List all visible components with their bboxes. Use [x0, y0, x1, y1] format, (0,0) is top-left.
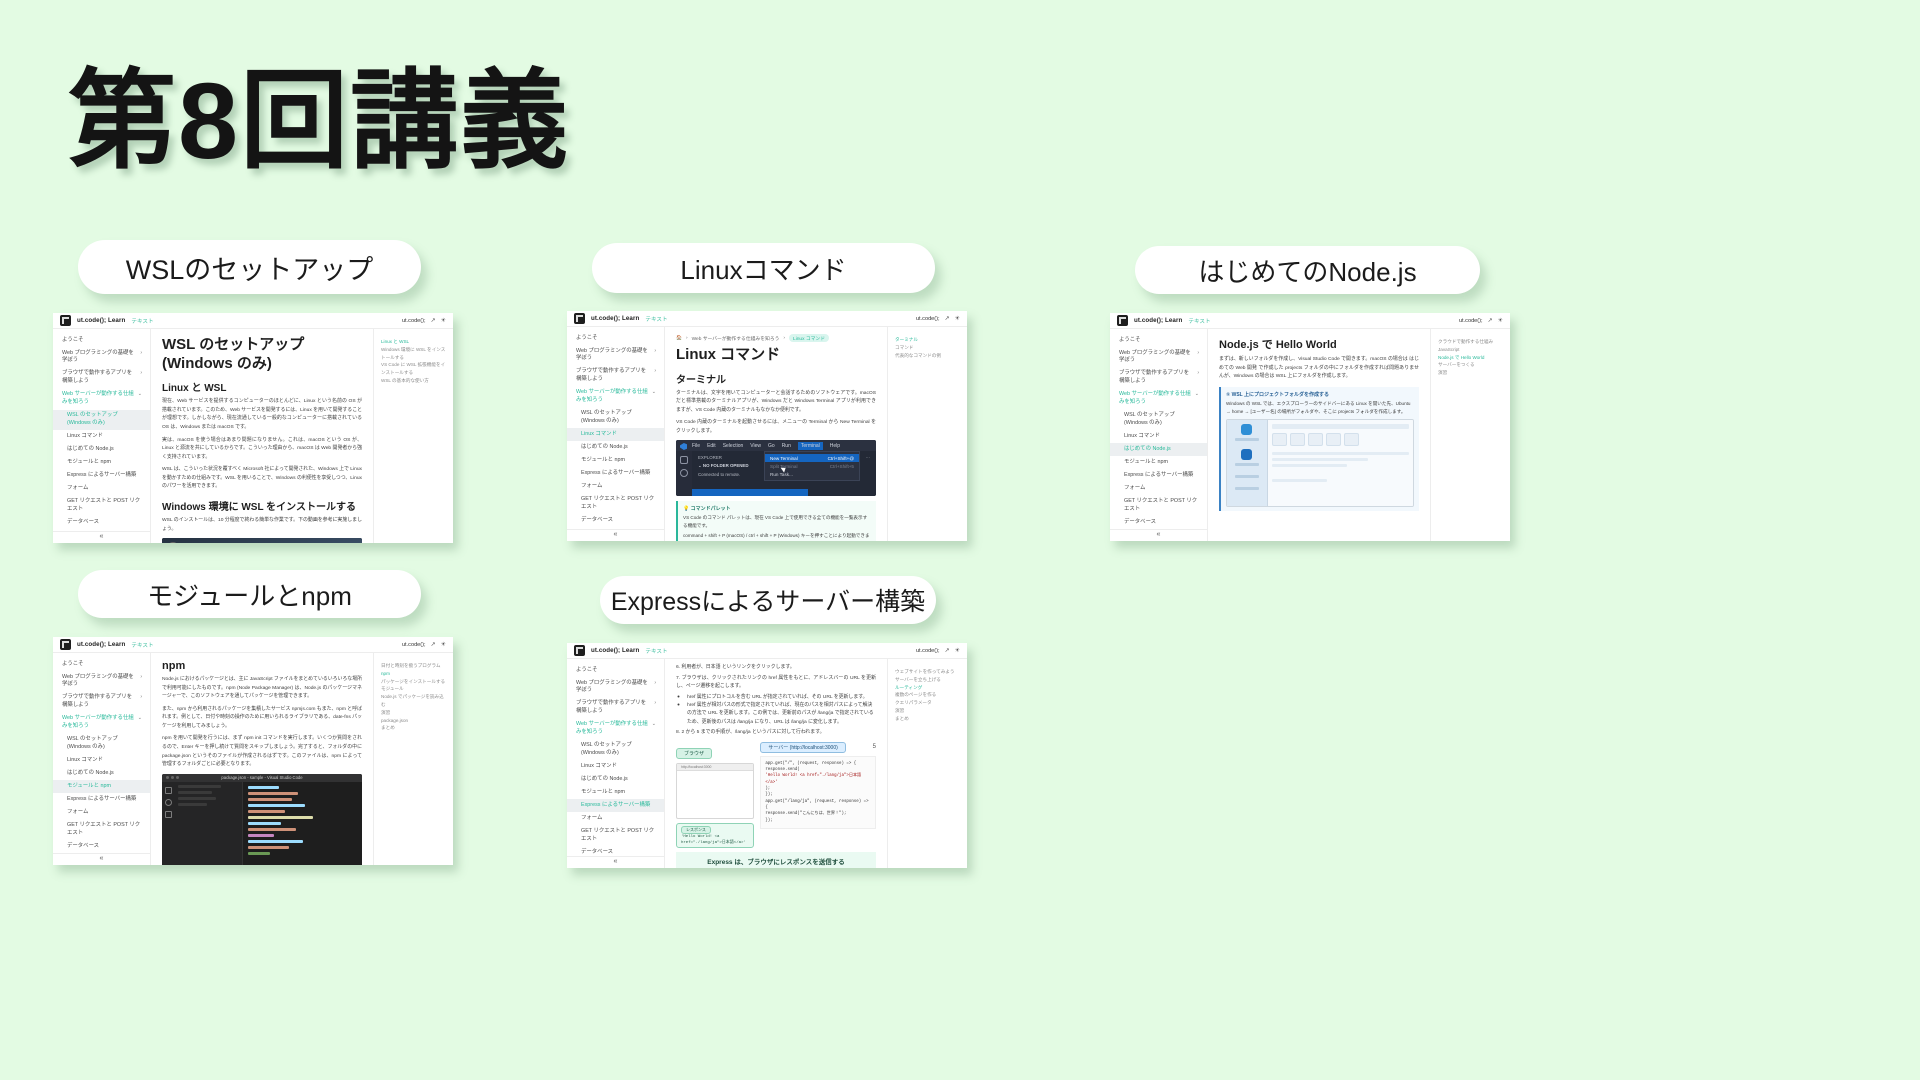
sidebar-item-form[interactable]: フォーム — [567, 812, 664, 825]
menu-item-shortcut: Ctrl+Shift+5 — [830, 464, 854, 469]
paragraph: まずは、新しいフォルダを作成し、Visual Studio Code で開きます… — [1219, 356, 1419, 382]
menu-item-label: New Terminal — [770, 456, 798, 461]
sidebar-item-database[interactable]: データベース — [53, 840, 150, 853]
sidebar-item-label: データベース — [1124, 519, 1199, 527]
sidebar-item-welcome[interactable]: ようこそ — [567, 332, 664, 345]
callout-body: Windows の WSL では、エクスプローラーのサイドバーにある Linux… — [1226, 400, 1414, 416]
sidebar-item-label: Web プログラミングの基礎を学ぼう — [62, 350, 137, 366]
menu-run[interactable]: Run — [782, 443, 791, 449]
sidebar-item-label: ブラウザで動作するアプリを構築しよう — [576, 700, 651, 716]
files-icon[interactable] — [165, 787, 172, 794]
sidebar-item-nodejs[interactable]: はじめての Node.js — [53, 443, 150, 456]
shot-topbar: ut.code(); Learn テキスト ut.code(); ↗ ☀ — [53, 637, 453, 653]
toc-item[interactable]: Linux と WSL — [381, 338, 447, 346]
sidebar-item-label: モジュールと npm — [67, 459, 142, 467]
toc-item[interactable]: まとめ — [895, 715, 961, 723]
toc-item[interactable]: パッケージをインストールする — [381, 678, 447, 686]
sidebar-item-label: GET リクエストと POST リクエスト — [67, 822, 142, 838]
sidebar-item-label: ようこそ — [62, 337, 142, 345]
breadcrumb[interactable]: 🏠 › Web サーバーが動作する仕組みを知ろう › Linux コマンド — [676, 334, 876, 342]
toc-item[interactable]: コマンド — [895, 344, 961, 352]
chevron-right-icon: › — [1197, 370, 1199, 377]
embedded-video[interactable]: Windows 11 に WSL 2 をインストールする ↗ 18:31 — [162, 538, 362, 543]
toc-item[interactable]: Node.js でパッケージを読み込む — [381, 693, 447, 709]
brand-name: ut.code(); Learn — [591, 315, 639, 322]
section-heading-terminal: ターミナル — [676, 371, 876, 386]
sidebar-item-webserver[interactable]: Web サーバーが動作する仕組みを知ろう⌄ — [1110, 389, 1207, 410]
breadcrumb-sep: › — [783, 336, 785, 341]
code-line: }); — [765, 818, 871, 824]
sidebar-item-webserver[interactable]: Web サーバーが動作する仕組みを知ろう⌄ — [53, 713, 150, 734]
section-heading-linux-wsl: Linux と WSL — [162, 379, 362, 394]
section-wsl: WSLのセットアップ ut.code(); Learn テキスト ut.code… — [78, 240, 453, 543]
sidebar-collapse-button[interactable]: « — [567, 529, 664, 541]
more-actions-icon[interactable]: ··· — [866, 455, 870, 460]
sidebar-item-label: ようこそ — [576, 335, 656, 343]
vscode-code-screenshot: package.json - sample - Visual Studio Co… — [162, 774, 362, 865]
window-controls[interactable] — [166, 776, 179, 779]
menu-item-shortcut: Ctrl+Shift+@ — [828, 456, 854, 461]
sidebar-item-getpost[interactable]: GET リクエストと POST リクエスト — [567, 825, 664, 846]
sidebar-item-database[interactable]: データベース — [567, 514, 664, 527]
file-explorer-tree[interactable] — [175, 782, 243, 865]
callout-wsl-folder: ① WSL 上にプロジェクトフォルダを作成する Windows の WSL では… — [1219, 387, 1419, 512]
sidebar-collapse-button[interactable]: « — [53, 531, 150, 543]
sidebar-item-label: はじめての Node.js — [581, 776, 656, 784]
table-of-contents[interactable]: クラウドで動作する仕組み JavaScript Node.js で Hello … — [1430, 329, 1510, 541]
sidebar-item-database[interactable]: データベース — [1110, 516, 1207, 529]
sidebar-item-label: GET リクエストと POST リクエスト — [1124, 498, 1199, 514]
window-titlebar: package.json - sample - Visual Studio Co… — [162, 774, 362, 782]
sidebar-item-browser-apps[interactable]: ブラウザで動作するアプリを構築しよう› — [1110, 368, 1207, 389]
chevron-right-icon: › — [1197, 350, 1199, 357]
sidebar-item-label: フォーム — [67, 809, 142, 817]
toc-item[interactable]: npm — [381, 670, 447, 678]
search-icon[interactable] — [680, 469, 688, 477]
shot-topbar: ut.code(); Learn テキスト ut.code(); ↗ ☀ — [567, 311, 967, 327]
sidebar-item-welcome[interactable]: ようこそ — [1110, 334, 1207, 347]
toc-item[interactable]: package.json — [381, 717, 447, 725]
sidebar-item-label: Express によるサーバー構築 — [1124, 472, 1199, 480]
sidebar-nav[interactable]: ようこそ Web プログラミングの基礎を学ぼう› ブラウザで動作するアプリを構築… — [567, 659, 665, 868]
callout-command-palette: 💡 コマンドパレット VS Code のコマンド パレットは、現在 VS Cod… — [676, 501, 876, 541]
page-heading: Linux コマンド — [676, 346, 876, 365]
pill-label-wsl[interactable]: WSLのセットアップ — [78, 240, 421, 294]
menu-view[interactable]: View — [750, 443, 761, 449]
toc-item[interactable]: クラウドで動作する仕組み JavaScript — [1438, 338, 1504, 354]
sidebar-nav[interactable]: ようこそ Web プログラミングの基礎を学ぼう› ブラウザで動作するアプリを構築… — [53, 329, 151, 543]
topbar-right: ut.code(); ↗ ☀ — [402, 641, 446, 648]
sidebar-item-label: Web サーバーが動作する仕組みを知ろう — [62, 715, 135, 731]
breadcrumb-item[interactable]: Web サーバーが動作する仕組みを知ろう — [692, 335, 780, 342]
site-name: ut.code(); — [1459, 318, 1483, 324]
sidebar-item-wsl[interactable]: WSL のセットアップ (Windows のみ) — [1110, 410, 1207, 431]
sidebar-item-nodejs[interactable]: はじめての Node.js — [1110, 443, 1207, 456]
sidebar-item-express[interactable]: Express によるサーバー構築 — [1110, 469, 1207, 482]
menu-help[interactable]: Help — [830, 443, 840, 449]
sidebar-item-label: Web サーバーが動作する仕組みを知ろう — [62, 391, 135, 407]
sidebar-item-nodejs[interactable]: はじめての Node.js — [53, 767, 150, 780]
explorer-right-pane — [1268, 420, 1413, 506]
vscode-screenshot: File Edit Selection View Go Run Terminal… — [676, 440, 876, 496]
toc-item[interactable]: サーバーを立ち上げる — [895, 676, 961, 684]
section-npm: モジュールとnpm ut.code(); Learn テキスト ut.code(… — [78, 570, 453, 865]
sidebar-item-label: Express によるサーバー構築 — [67, 796, 142, 804]
toc-item[interactable]: まとめ — [381, 724, 447, 732]
menu-file[interactable]: File — [692, 443, 700, 449]
response-tab-label: レスポンス — [681, 826, 711, 834]
sidebar-item-webserver[interactable]: Web サーバーが動作する仕組みを知ろう⌄ — [53, 389, 150, 410]
sidebar-item-webserver[interactable]: Web サーバーが動作する仕組みを知ろう⌄ — [567, 387, 664, 408]
screenshot-linux[interactable]: ut.code(); Learn テキスト ut.code(); ↗ ☀ ようこ… — [567, 311, 967, 541]
sidebar-item-label: データベース — [581, 517, 656, 525]
pill-label-nodejs[interactable]: はじめてのNode.js — [1135, 246, 1480, 294]
sidebar-item-label: WSL のセットアップ (Windows のみ) — [581, 410, 656, 426]
chevron-down-icon: ⌄ — [652, 721, 656, 728]
external-link-icon[interactable]: ↗ — [1488, 317, 1493, 324]
sidebar-item-webserver[interactable]: Web サーバーが動作する仕組みを知ろう⌄ — [567, 719, 664, 740]
site-name: ut.code(); — [402, 642, 426, 648]
sidebar-item-browser-apps[interactable]: ブラウザで動作するアプリを構築しよう› — [567, 698, 664, 719]
sidebar-item-web-basics[interactable]: Web プログラミングの基礎を学ぼう› — [567, 345, 664, 366]
sidebar-item-linux[interactable]: Linux コマンド — [567, 428, 664, 441]
terminal-menu-dropdown[interactable]: New Terminal Ctrl+Shift+@ Split Terminal… — [764, 451, 860, 481]
pill-text: Linuxコマンド — [680, 250, 846, 287]
sidebar-item-welcome[interactable]: ようこそ — [53, 658, 150, 671]
sidebar-item-label: Web サーバーが動作する仕組みを知ろう — [1119, 391, 1192, 407]
callout-body: VS Code のコマンド パレットは、現在 VS Code 上で使用できる全て… — [683, 514, 871, 530]
nav-link-text[interactable]: テキスト — [1188, 317, 1210, 325]
toc-item[interactable]: 日付と時刻を扱うプログラム — [381, 662, 447, 670]
sidebar-item-label: Linux コマンド — [67, 433, 142, 441]
video-thumbnail — [162, 538, 362, 543]
response-body: 'Hello World! <a href="./lang/ja">日本語</a… — [681, 835, 749, 845]
sidebar-item-label: データベース — [67, 519, 142, 527]
sidebar-item-label: GET リクエストと POST リクエスト — [67, 498, 142, 514]
table-of-contents[interactable]: 日付と時刻を扱うプログラム npm パッケージをインストールする モジュール N… — [373, 653, 453, 865]
shot-body: ようこそ Web プログラミングの基礎を学ぼう› ブラウザで動作するアプリを構築… — [53, 329, 453, 543]
menu-terminal[interactable]: Terminal — [798, 442, 823, 450]
sidebar-item-linux[interactable]: Linux コマンド — [567, 760, 664, 773]
sidebar-item-label: Express によるサーバー構築 — [581, 802, 656, 810]
menu-item-run-task[interactable]: Run Task... — [765, 470, 859, 478]
folder-label: NO FOLDER OPENED — [703, 463, 749, 468]
sidebar-collapse-button[interactable]: « — [1110, 529, 1207, 541]
utcode-logo-icon — [574, 313, 585, 324]
brightness-icon[interactable]: ☀ — [955, 647, 960, 654]
menu-selection[interactable]: Selection — [723, 443, 744, 449]
nav-link-text[interactable]: テキスト — [645, 315, 667, 323]
sidebar-nav[interactable]: ようこそ Web プログラミングの基礎を学ぼう› ブラウザで動作するアプリを構築… — [567, 327, 665, 541]
site-name: ut.code(); — [916, 648, 940, 654]
activity-bar[interactable] — [162, 782, 175, 865]
sidebar-item-label: モジュールと npm — [67, 783, 142, 791]
sidebar-item-wsl[interactable]: WSL のセットアップ (Windows のみ) — [53, 410, 150, 431]
toc-item[interactable]: VS Code に WSL 拡張機能をインストールする — [381, 361, 447, 377]
pill-label-express[interactable]: Expressによるサーバー構築 — [600, 576, 936, 624]
callout-title-text: WSL 上にプロジェクトフォルダを作成する — [1232, 392, 1329, 398]
toc-item[interactable]: 複数のページを作る — [895, 691, 961, 699]
explorer-screenshot — [1226, 419, 1414, 507]
sidebar-item-npm[interactable]: モジュールと npm — [567, 786, 664, 799]
menu-item-new-terminal[interactable]: New Terminal Ctrl+Shift+@ — [765, 454, 859, 462]
sidebar-item-label: Express によるサーバー構築 — [581, 470, 656, 478]
sidebar-item-npm[interactable]: モジュールと npm — [567, 454, 664, 467]
sidebar-item-label: はじめての Node.js — [1124, 446, 1199, 454]
callout-keys: command + shift + P (macOS) / ctrl + shi… — [683, 532, 871, 541]
table-of-contents[interactable]: Linux と WSL Windows 環境に WSL をインストールする VS… — [373, 329, 453, 543]
paragraph: Node.js におけるパッケージとは、主に JavaScript ファイルをま… — [162, 676, 362, 702]
pill-text: モジュールとnpm — [147, 576, 352, 613]
sidebar-item-label: フォーム — [1124, 485, 1199, 493]
files-icon[interactable] — [680, 456, 688, 464]
sidebar-collapse-button[interactable]: « — [53, 853, 150, 865]
sidebar-collapse-button[interactable]: « — [567, 856, 664, 868]
chevron-down-icon: ⌄ — [138, 715, 142, 722]
sidebar-item-label: Web プログラミングの基礎を学ぼう — [62, 674, 137, 690]
chevron-right-icon: › — [654, 680, 656, 687]
sidebar-item-form[interactable]: フォーム — [53, 806, 150, 819]
vscode-menubar[interactable]: File Edit Selection View Go Run Terminal… — [676, 440, 876, 451]
sidebar-item-express[interactable]: Express によるサーバー構築 — [567, 467, 664, 480]
explorer-left-pane — [1227, 420, 1268, 506]
callout-title-text: コマンドパレット — [691, 506, 731, 512]
brand-name: ut.code(); Learn — [77, 317, 125, 324]
sidebar-item-form[interactable]: フォーム — [1110, 482, 1207, 495]
toc-item[interactable]: クエリパラメータ — [895, 699, 961, 707]
server-tab-label: サーバー (http://localhost:3000) — [760, 742, 845, 753]
page-heading: Node.js で Hello World — [1219, 336, 1419, 352]
paragraph: 実は、macOS を使う場合はあまり問題になりません。これは、macOS という… — [162, 437, 362, 463]
sidebar-item-label: WSL のセットアップ (Windows のみ) — [67, 736, 142, 752]
sidebar-item-label: Web プログラミングの基礎を学ぼう — [576, 348, 651, 364]
drive-icon — [1241, 424, 1252, 435]
paragraph: 現在、Web サービスを提供するコンピューターのほとんどに、Linux という名… — [162, 398, 362, 432]
sidebar-item-label: モジュールと npm — [581, 789, 656, 797]
shot-body: ようこそ Web プログラミングの基礎を学ぼう› ブラウザで動作するアプリを構築… — [1110, 329, 1510, 541]
screenshot-wsl[interactable]: ut.code(); Learn テキスト ut.code(); ↗ ☀ ようこ… — [53, 313, 453, 543]
browser-tab-label: ブラウザ — [676, 748, 712, 759]
window-title: package.json - sample - Visual Studio Co… — [221, 775, 302, 780]
menu-item-split-terminal[interactable]: Split Terminal Ctrl+Shift+5 — [765, 462, 859, 470]
sidebar-item-label: Web サーバーが動作する仕組みを知ろう — [576, 389, 649, 405]
sidebar-item-web-basics[interactable]: Web プログラミングの基礎を学ぼう› — [1110, 347, 1207, 368]
sidebar-item-nodejs[interactable]: はじめての Node.js — [567, 773, 664, 786]
sidebar-item-label: ブラウザで動作するアプリを構築しよう — [62, 370, 137, 386]
chevron-right-icon: › — [140, 694, 142, 701]
pill-text: はじめてのNode.js — [1198, 252, 1416, 289]
external-link-icon[interactable]: ↗ — [431, 641, 436, 648]
sidebar-item-express[interactable]: Express によるサーバー構築 — [53, 793, 150, 806]
sidebar-item-label: Web プログラミングの基礎を学ぼう — [576, 680, 651, 696]
sidebar-item-label: Linux コマンド — [67, 757, 142, 765]
list-item: href 属性が相対パスの形式で指定されていれば、現在のパスを相対パスによって解… — [687, 702, 876, 727]
main-content: Node.js で Hello World まずは、新しいフォルダを作成し、Vi… — [1208, 329, 1430, 541]
brightness-icon[interactable]: ☀ — [1498, 317, 1503, 324]
shot-topbar: ut.code(); Learn テキスト ut.code(); ↗ ☀ — [53, 313, 453, 329]
home-icon[interactable]: 🏠 — [676, 336, 682, 341]
page-title: 第8回講義 — [68, 62, 570, 181]
sidebar-item-welcome[interactable]: ようこそ — [53, 334, 150, 347]
toc-item[interactable]: ターミナル — [895, 336, 961, 344]
sidebar-item-wsl[interactable]: WSL のセットアップ (Windows のみ) — [53, 734, 150, 755]
screenshot-nodejs[interactable]: ut.code(); Learn テキスト ut.code(); ↗ ☀ ようこ… — [1110, 313, 1510, 541]
sidebar-item-label: ようこそ — [576, 667, 656, 675]
source-control-icon[interactable] — [165, 811, 172, 818]
sidebar-item-label: Web プログラミングの基礎を学ぼう — [1119, 350, 1194, 366]
topbar-right: ut.code(); ↗ ☀ — [1459, 317, 1503, 324]
paragraph: WSL のインストールは、10 分程度で終わる簡単な作業です。下の動画を参考に実… — [162, 517, 362, 534]
breadcrumb-sep: › — [686, 336, 688, 341]
sidebar-item-express[interactable]: Express によるサーバー構築 — [53, 469, 150, 482]
code-line: app.get("/lang/ja", (request, response) … — [765, 799, 871, 812]
shot-topbar: ut.code(); Learn テキスト ut.code(); ↗ ☀ — [1110, 313, 1510, 329]
toc-item[interactable]: WSL の基本的な使い方 — [381, 377, 447, 385]
pill-label-linux[interactable]: Linuxコマンド — [592, 243, 935, 293]
sidebar-item-label: GET リクエストと POST リクエスト — [581, 496, 656, 512]
toc-item[interactable]: Node.js で Hello World — [1438, 354, 1504, 362]
sidebar-item-browser-apps[interactable]: ブラウザで動作するアプリを構築しよう› — [53, 692, 150, 713]
sidebar-item-label: ブラウザで動作するアプリを構築しよう — [1119, 370, 1194, 386]
sidebar-item-label: Web サーバーが動作する仕組みを知ろう — [576, 721, 649, 737]
diagram-request-response: ブラウザ http://localhost:3000 レスポンス 'Hello … — [676, 742, 876, 848]
sidebar-item-form[interactable]: フォーム — [567, 480, 664, 493]
sidebar-item-browser-apps[interactable]: ブラウザで動作するアプリを構築しよう› — [53, 368, 150, 389]
explorer-title: EXPLORER — [698, 455, 722, 460]
sidebar-item-wsl[interactable]: WSL のセットアップ (Windows のみ) — [567, 408, 664, 429]
toc-item[interactable]: ウェブサイトを作ってみよう — [895, 668, 961, 676]
sidebar-item-welcome[interactable]: ようこそ — [567, 664, 664, 677]
brightness-icon[interactable]: ☀ — [441, 641, 446, 648]
paragraph: VS Code 内蔵のターミナルを起動させるには、メニューの Terminal … — [676, 419, 876, 436]
sidebar-item-label: モジュールと npm — [581, 457, 656, 465]
screenshot-npm[interactable]: ut.code(); Learn テキスト ut.code(); ↗ ☀ ようこ… — [53, 637, 453, 865]
sidebar-nav[interactable]: ようこそ Web プログラミングの基礎を学ぼう› ブラウザで動作するアプリを構築… — [53, 653, 151, 865]
sidebar-item-label: ブラウザで動作するアプリを構築しよう — [62, 694, 137, 710]
sidebar-item-browser-apps[interactable]: ブラウザで動作するアプリを構築しよう› — [567, 366, 664, 387]
sidebar-item-linux[interactable]: Linux コマンド — [1110, 430, 1207, 443]
shot-topbar: ut.code(); Learn テキスト ut.code(); ↗ ☀ — [567, 643, 967, 659]
sidebar-nav[interactable]: ようこそ Web プログラミングの基礎を学ぼう› ブラウザで動作するアプリを構築… — [1110, 329, 1208, 541]
sidebar-item-getpost[interactable]: GET リクエストと POST リクエスト — [53, 495, 150, 516]
server-panel: サーバー (http://localhost:3000) 5 app.get("… — [760, 742, 876, 848]
toc-item[interactable]: ルーティング — [895, 684, 961, 692]
sidebar-item-form[interactable]: フォーム — [53, 482, 150, 495]
sidebar-item-linux[interactable]: Linux コマンド — [53, 430, 150, 443]
list-item: 8. 2 から 5 までの手順が、/lang/ja というパスに対して行われます… — [676, 729, 876, 738]
breadcrumb-current: Linux コマンド — [789, 334, 829, 342]
sidebar-item-npm[interactable]: モジュールと npm — [53, 456, 150, 469]
toc-item[interactable]: 代表的なコマンドの例 — [895, 352, 961, 360]
browser-panel: ブラウザ http://localhost:3000 レスポンス 'Hello … — [676, 742, 754, 848]
sidebar-item-web-basics[interactable]: Web プログラミングの基礎を学ぼう› — [567, 677, 664, 698]
external-link-icon[interactable]: ↗ — [945, 315, 950, 322]
toc-item[interactable]: 演習 — [895, 707, 961, 715]
edge-icon — [1241, 449, 1252, 460]
toc-item[interactable]: 演習 — [381, 709, 447, 717]
toc-item[interactable]: モジュール — [381, 685, 447, 693]
sidebar-item-label: フォーム — [581, 483, 656, 491]
external-link-icon[interactable]: ↗ — [431, 317, 436, 324]
brightness-icon[interactable]: ☀ — [441, 317, 446, 324]
site-name: ut.code(); — [402, 318, 426, 324]
pill-label-npm[interactable]: モジュールとnpm — [78, 570, 421, 618]
sidebar-item-express[interactable]: Express によるサーバー構築 — [567, 799, 664, 812]
menu-go[interactable]: Go — [768, 443, 775, 449]
topbar-right: ut.code(); ↗ ☀ — [916, 647, 960, 654]
vscode-statusbar — [692, 489, 808, 496]
toc-item[interactable]: 演習 — [1438, 369, 1504, 377]
sidebar-item-getpost[interactable]: GET リクエストと POST リクエスト — [1110, 495, 1207, 516]
screenshot-express[interactable]: ut.code(); Learn テキスト ut.code(); ↗ ☀ ようこ… — [567, 643, 967, 868]
table-of-contents[interactable]: ターミナル コマンド 代表的なコマンドの例 — [887, 327, 967, 541]
sidebar-item-label: モジュールと npm — [1124, 459, 1199, 467]
sidebar-item-label: はじめての Node.js — [67, 770, 142, 778]
chevron-down-icon: ⌄ — [652, 389, 656, 396]
utcode-logo-icon — [60, 315, 71, 326]
brightness-icon[interactable]: ☀ — [955, 315, 960, 322]
nav-link-text[interactable]: テキスト — [645, 647, 667, 655]
paragraph: また、npm から利用されるパッケージを集積したサービス npmjs.com も… — [162, 706, 362, 732]
sidebar-item-web-basics[interactable]: Web プログラミングの基礎を学ぼう› — [53, 671, 150, 692]
browser-window-mock[interactable]: http://localhost:3000 — [676, 763, 754, 819]
sidebar-item-label: WSL のセットアップ (Windows のみ) — [1124, 412, 1199, 428]
callout-title: ① WSL 上にプロジェクトフォルダを作成する — [1226, 391, 1414, 398]
menu-item-label: Run Task... — [770, 472, 793, 477]
code-editor-pane[interactable] — [243, 782, 362, 865]
paragraph: ターミナルは、文字を用いてコンピューターと会話するためのソフトウェアです。mac… — [676, 390, 876, 416]
sidebar-item-web-basics[interactable]: Web プログラミングの基礎を学ぼう› — [53, 347, 150, 368]
vscode-activitybar[interactable] — [676, 451, 692, 496]
shot-body: ようこそ Web プログラミングの基礎を学ぼう› ブラウザで動作するアプリを構築… — [567, 659, 967, 868]
utcode-logo-icon — [60, 639, 71, 650]
search-icon[interactable] — [165, 799, 172, 806]
list-item: href 属性にプロトコルを含む URL が指定されていれば、その URL を更… — [687, 694, 876, 702]
external-link-icon[interactable]: ↗ — [945, 647, 950, 654]
sidebar-item-label: データベース — [67, 843, 142, 851]
pill-text: Expressによるサーバー構築 — [611, 582, 925, 618]
sidebar-item-label: はじめての Node.js — [67, 446, 142, 454]
page-heading: npm — [162, 660, 362, 672]
chevron-right-icon: › — [140, 350, 142, 357]
sidebar-item-linux[interactable]: Linux コマンド — [53, 754, 150, 767]
menu-edit[interactable]: Edit — [707, 443, 716, 449]
sidebar-item-getpost[interactable]: GET リクエストと POST リクエスト — [53, 819, 150, 840]
topbar-right: ut.code(); ↗ ☀ — [402, 317, 446, 324]
sidebar-item-label: ようこそ — [62, 661, 142, 669]
sidebar-item-label: GET リクエストと POST リクエスト — [581, 828, 656, 844]
browser-address-bar[interactable]: http://localhost:3000 — [677, 764, 753, 771]
sidebar-item-database[interactable]: データベース — [53, 516, 150, 529]
toc-item[interactable]: Windows 環境に WSL をインストールする — [381, 346, 447, 362]
sidebar-item-npm[interactable]: モジュールと npm — [1110, 456, 1207, 469]
nav-link-text[interactable]: テキスト — [131, 317, 153, 325]
shot-body: ようこそ Web プログラミングの基礎を学ぼう› ブラウザで動作するアプリを構築… — [567, 327, 967, 541]
toc-item[interactable]: サーバーをつくる — [1438, 361, 1504, 369]
paragraph: WSL は、こういった状況を覆すべく Microsoft 社によって開発された、… — [162, 466, 362, 492]
sidebar-item-label: WSL のセットアップ (Windows のみ) — [581, 742, 656, 758]
sidebar-item-nodejs[interactable]: はじめての Node.js — [567, 441, 664, 454]
sidebar-item-label: ようこそ — [1119, 337, 1199, 345]
sidebar-item-npm[interactable]: モジュールと npm — [53, 780, 150, 793]
chevron-down-icon: ⌄ — [1195, 391, 1199, 398]
sidebar-item-getpost[interactable]: GET リクエストと POST リクエスト — [567, 493, 664, 514]
brand-name: ut.code(); Learn — [1134, 317, 1182, 324]
table-of-contents[interactable]: ウェブサイトを作ってみよう サーバーを立ち上げる ルーティング 複数のページを作… — [887, 659, 967, 868]
list-item: 7. ブラウザは、クリックされたリンクの href 属性をもとに、アドレスバーの… — [676, 675, 876, 692]
sidebar-item-wsl[interactable]: WSL のセットアップ (Windows のみ) — [567, 740, 664, 761]
nav-link-text[interactable]: テキスト — [131, 641, 153, 649]
